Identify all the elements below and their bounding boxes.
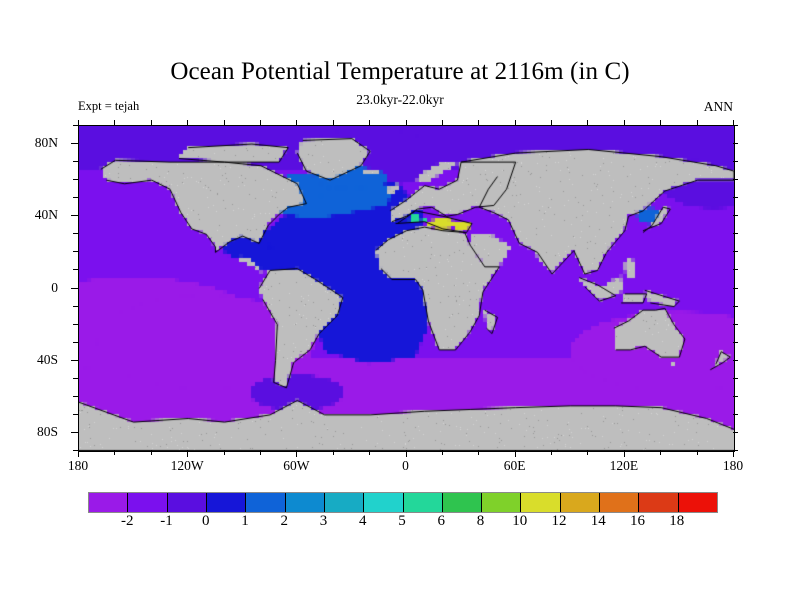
y-minor-tick: [73, 396, 78, 397]
colorbar-tick-label: 6: [438, 513, 446, 530]
x-axis-label: 180: [68, 458, 88, 474]
y-minor-tick: [733, 179, 738, 180]
x-major-tick: [733, 450, 734, 457]
x-minor-tick: [442, 450, 443, 455]
x-minor-tick: [296, 120, 297, 125]
y-minor-tick: [733, 251, 738, 252]
x-minor-tick: [114, 450, 115, 455]
x-major-tick: [187, 450, 188, 457]
colorbar-tick-label: 16: [630, 513, 645, 530]
y-minor-tick: [733, 125, 738, 126]
colorbar-segment: [482, 493, 521, 512]
colorbar-segment: [325, 493, 364, 512]
colorbar-segment: [443, 493, 482, 512]
y-axis-label: 0: [0, 280, 58, 296]
y-major-tick: [71, 143, 78, 144]
x-minor-tick: [551, 450, 552, 455]
x-axis-label: 120E: [610, 458, 639, 474]
y-minor-tick: [733, 396, 738, 397]
x-major-tick: [406, 450, 407, 457]
colorbar-tick-label: 18: [669, 513, 684, 530]
colorbar-tick-label: 10: [512, 513, 527, 530]
y-major-tick: [71, 288, 78, 289]
y-minor-tick: [733, 233, 738, 234]
x-minor-tick: [224, 120, 225, 125]
y-minor-tick: [73, 269, 78, 270]
colorbar-tick-label: -1: [160, 513, 173, 530]
colorbar-tick-label: 8: [477, 513, 485, 530]
x-minor-tick: [260, 120, 261, 125]
y-minor-tick: [73, 179, 78, 180]
colorbar-tick-label: -2: [121, 513, 134, 530]
x-minor-tick: [224, 450, 225, 455]
x-minor-tick: [587, 120, 588, 125]
x-minor-tick: [478, 450, 479, 455]
x-minor-tick: [333, 450, 334, 455]
x-minor-tick: [187, 120, 188, 125]
y-minor-tick: [733, 269, 738, 270]
colorbar-tick-label: 12: [552, 513, 567, 530]
x-minor-tick: [78, 120, 79, 125]
x-minor-tick: [697, 120, 698, 125]
x-minor-tick: [114, 120, 115, 125]
y-minor-tick: [733, 324, 738, 325]
map-plot-area: [78, 125, 735, 452]
ocean-temperature-heatmap: [79, 126, 734, 451]
y-axis-label: 80S: [0, 424, 58, 440]
x-minor-tick: [515, 120, 516, 125]
y-minor-tick: [73, 197, 78, 198]
x-minor-tick: [624, 120, 625, 125]
y-minor-tick: [733, 342, 738, 343]
y-minor-tick: [73, 378, 78, 379]
x-minor-tick: [260, 450, 261, 455]
y-axis-label: 40N: [0, 207, 58, 223]
colorbar-segment: [89, 493, 128, 512]
y-minor-tick: [733, 288, 738, 289]
x-minor-tick: [660, 120, 661, 125]
x-minor-tick: [151, 120, 152, 125]
y-minor-tick: [73, 161, 78, 162]
x-minor-tick: [478, 120, 479, 125]
y-minor-tick: [733, 306, 738, 307]
y-minor-tick: [733, 378, 738, 379]
y-major-tick: [71, 432, 78, 433]
x-minor-tick: [406, 120, 407, 125]
x-minor-tick: [442, 120, 443, 125]
y-minor-tick: [733, 197, 738, 198]
colorbar-segment: [286, 493, 325, 512]
x-axis-label: 180: [723, 458, 743, 474]
colorbar-tick-label: 1: [241, 513, 249, 530]
colorbar-segment: [521, 493, 560, 512]
colorbar-segment: [404, 493, 443, 512]
x-axis-label: 0: [402, 458, 409, 474]
x-major-tick: [296, 450, 297, 457]
y-minor-tick: [73, 233, 78, 234]
y-minor-tick: [733, 360, 738, 361]
y-major-tick: [71, 215, 78, 216]
x-axis-label: 60W: [283, 458, 309, 474]
x-minor-tick: [587, 450, 588, 455]
colorbar-segment: [364, 493, 403, 512]
x-minor-tick: [551, 120, 552, 125]
colorbar-segment: [600, 493, 639, 512]
figure: Ocean Potential Temperature at 2116m (in…: [0, 0, 800, 600]
colorbar-segment: [679, 493, 717, 512]
x-minor-tick: [369, 120, 370, 125]
y-axis-label: 80N: [0, 135, 58, 151]
experiment-label: Expt = tejah: [78, 99, 139, 114]
y-minor-tick: [733, 414, 738, 415]
x-minor-tick: [660, 450, 661, 455]
colorbar-tick-label: 2: [281, 513, 289, 530]
colorbar-tick-label: 14: [591, 513, 606, 530]
y-axis-label: 40S: [0, 352, 58, 368]
x-major-tick: [515, 450, 516, 457]
x-axis-label: 60E: [504, 458, 526, 474]
y-minor-tick: [733, 215, 738, 216]
y-minor-tick: [73, 342, 78, 343]
colorbar-segment: [168, 493, 207, 512]
page-title: Ocean Potential Temperature at 2116m (in…: [0, 58, 800, 86]
x-minor-tick: [333, 120, 334, 125]
colorbar-tick-label: 0: [202, 513, 210, 530]
y-minor-tick: [73, 125, 78, 126]
colorbar-segment: [207, 493, 246, 512]
colorbar-tick-label: 4: [359, 513, 367, 530]
y-minor-tick: [733, 161, 738, 162]
y-major-tick: [71, 360, 78, 361]
colorbar-tick-label: 3: [320, 513, 328, 530]
y-minor-tick: [73, 306, 78, 307]
y-minor-tick: [73, 414, 78, 415]
y-minor-tick: [733, 432, 738, 433]
y-minor-tick: [73, 324, 78, 325]
colorbar-tick-label: 5: [398, 513, 406, 530]
y-minor-tick: [733, 143, 738, 144]
x-major-tick: [78, 450, 79, 457]
y-minor-tick: [73, 251, 78, 252]
colorbar: [88, 492, 718, 513]
x-minor-tick: [697, 450, 698, 455]
colorbar-segment: [128, 493, 167, 512]
x-minor-tick: [369, 450, 370, 455]
x-minor-tick: [151, 450, 152, 455]
x-axis-label: 120W: [171, 458, 204, 474]
colorbar-segment: [561, 493, 600, 512]
colorbar-segment: [246, 493, 285, 512]
x-major-tick: [624, 450, 625, 457]
season-label: ANN: [704, 99, 733, 115]
colorbar-segment: [639, 493, 678, 512]
